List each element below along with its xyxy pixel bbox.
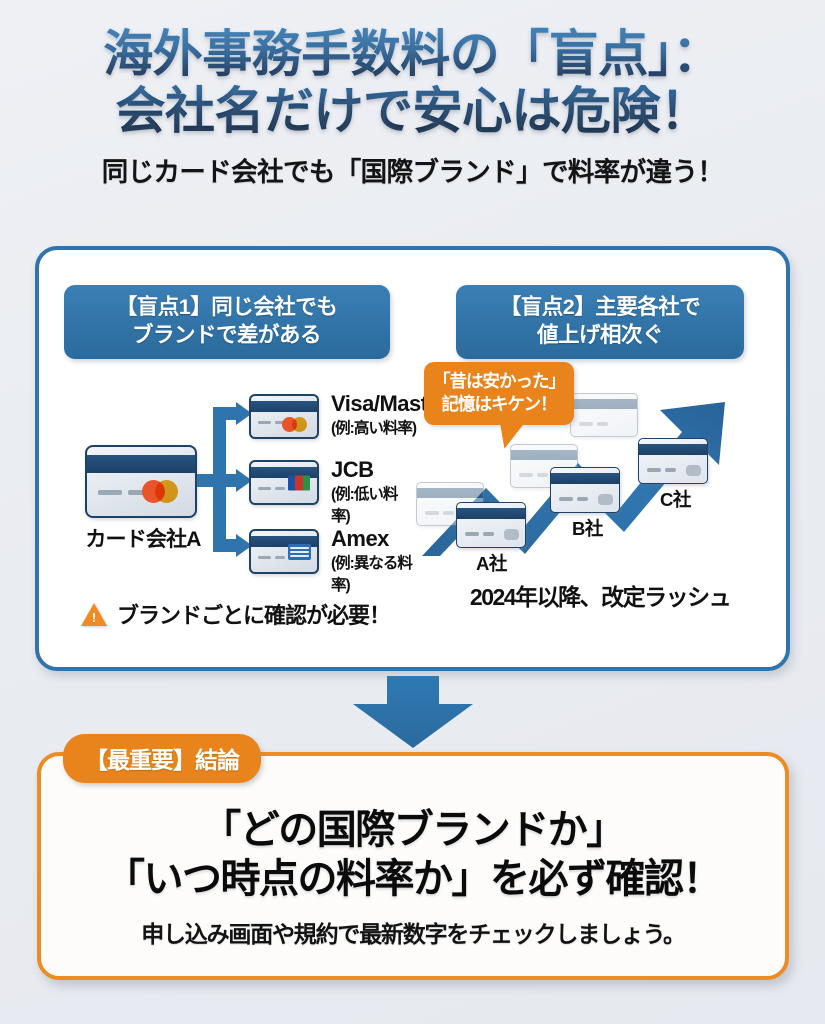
card-line — [665, 468, 676, 472]
mastercard-logo-circle — [155, 480, 178, 503]
card-line — [483, 532, 494, 536]
card-magnetic-stripe — [551, 473, 619, 484]
card-line — [519, 473, 533, 477]
down-arrow-icon — [347, 676, 479, 750]
card-line — [537, 473, 548, 477]
card-line — [98, 490, 122, 495]
blindspot-2-heading-line-1: 【盲点2】主要各社で — [470, 294, 730, 322]
conclusion-badge: 【最重要】結論 — [63, 734, 261, 783]
rate-increase-chart: A社 B社 C社 「昔は安かった」 記 — [414, 360, 786, 570]
card-magnetic-stripe — [87, 455, 195, 473]
bubble-line-2: 記憶はキケン！ — [430, 393, 568, 416]
blindspot-1-heading-line-2: ブランドで差がある — [78, 322, 376, 350]
company-card-b — [550, 467, 620, 513]
card-line — [258, 487, 271, 490]
card-line — [258, 556, 271, 559]
card-line — [647, 468, 661, 472]
card-line — [275, 556, 286, 559]
main-panel: 【盲点1】同じ会社でも ブランドで差がある — [35, 246, 790, 671]
card-magnetic-stripe — [457, 508, 525, 519]
card-line — [577, 497, 588, 501]
brand-name: Amex — [331, 527, 413, 550]
brand-example-rate: (例:低い料率) — [331, 482, 413, 526]
background-card-graphic — [570, 393, 638, 437]
brand-branch-diagram: カード会社A Visa/Master (例:高い料率) — [53, 388, 413, 648]
bubble-line-1: 「昔は安かった」 — [430, 370, 568, 393]
card-magnetic-stripe — [639, 444, 707, 455]
mastercard-logo-circle — [292, 417, 307, 432]
card-chip-icon — [686, 465, 701, 476]
card-magnetic-stripe — [571, 399, 637, 410]
brand-card-amex — [249, 529, 319, 574]
page-title-line-2: 会社名だけで安心は危険！ — [0, 83, 825, 140]
brand-card-jcb — [249, 460, 319, 505]
page-subtitle: 同じカード会社でも「国際ブランド」で料率が違う！ — [0, 150, 825, 189]
brand-label-amex: Amex (例:異なる料率) — [331, 527, 413, 595]
blindspot-2-section: 【盲点2】主要各社で 値上げ相次ぐ — [414, 250, 786, 667]
conclusion-line-2: 「いつ時点の料率か」を必ず確認！ — [41, 855, 785, 904]
brand-warning-text: ブランドごとに確認が必要！ — [117, 598, 390, 630]
conclusion-line-1: 「どの国際ブランドか」 — [41, 806, 785, 855]
blindspot-2-heading: 【盲点2】主要各社で 値上げ相次ぐ — [456, 285, 744, 359]
warning-triangle-icon — [81, 603, 107, 626]
brand-warning: ブランドごとに確認が必要！ — [81, 598, 411, 630]
conclusion-note: 申し込み画面や規約で最新数字をチェックしましょう。 — [41, 915, 785, 949]
company-label-b: B社 — [572, 515, 603, 541]
blindspot-2-heading-line-2: 値上げ相次ぐ — [470, 322, 730, 350]
card-chip-icon — [598, 494, 613, 505]
blindspot-1-section: 【盲点1】同じ会社でも ブランドで差がある — [39, 250, 414, 667]
source-card-graphic — [85, 445, 197, 518]
card-line — [443, 511, 454, 515]
page-header: 海外事務手数料の「盲点」： 会社名だけで安心は危険！ 同じカード会社でも「国際ブ… — [0, 0, 825, 189]
card-magnetic-stripe — [417, 488, 483, 499]
rate-increase-caption: 2024年以降、改定ラッシュ — [414, 578, 786, 612]
card-line — [465, 532, 479, 536]
card-magnetic-stripe — [511, 450, 577, 461]
brand-card-visa-master — [249, 394, 319, 439]
source-card-label: カード会社A — [69, 523, 217, 553]
jcb-logo — [288, 476, 310, 491]
card-line — [559, 497, 573, 501]
card-line — [258, 421, 271, 424]
brand-label-jcb: JCB (例:低い料率) — [331, 458, 413, 526]
card-line — [579, 422, 593, 426]
blindspot-1-heading: 【盲点1】同じ会社でも ブランドで差がある — [64, 285, 390, 359]
company-card-c — [638, 438, 708, 484]
brand-example-rate: (例:異なる料率) — [331, 551, 413, 595]
card-line — [425, 511, 439, 515]
card-magnetic-stripe — [251, 401, 317, 412]
blindspot-1-heading-line-1: 【盲点1】同じ会社でも — [78, 294, 376, 322]
card-chip-icon — [504, 529, 519, 540]
conclusion-box: 【最重要】結論 「どの国際ブランドか」 「いつ時点の料率か」を必ず確認！ 申し込… — [37, 752, 789, 980]
amex-logo — [288, 544, 311, 560]
card-line — [275, 487, 286, 490]
company-label-a: A社 — [476, 550, 507, 576]
brand-name: JCB — [331, 458, 413, 481]
memory-warning-bubble: 「昔は安かった」 記憶はキケン！ — [424, 362, 574, 425]
company-card-a — [456, 502, 526, 548]
card-line — [597, 422, 608, 426]
page-title-line-1: 海外事務手数料の「盲点」： — [0, 26, 825, 83]
company-label-c: C社 — [660, 486, 691, 512]
